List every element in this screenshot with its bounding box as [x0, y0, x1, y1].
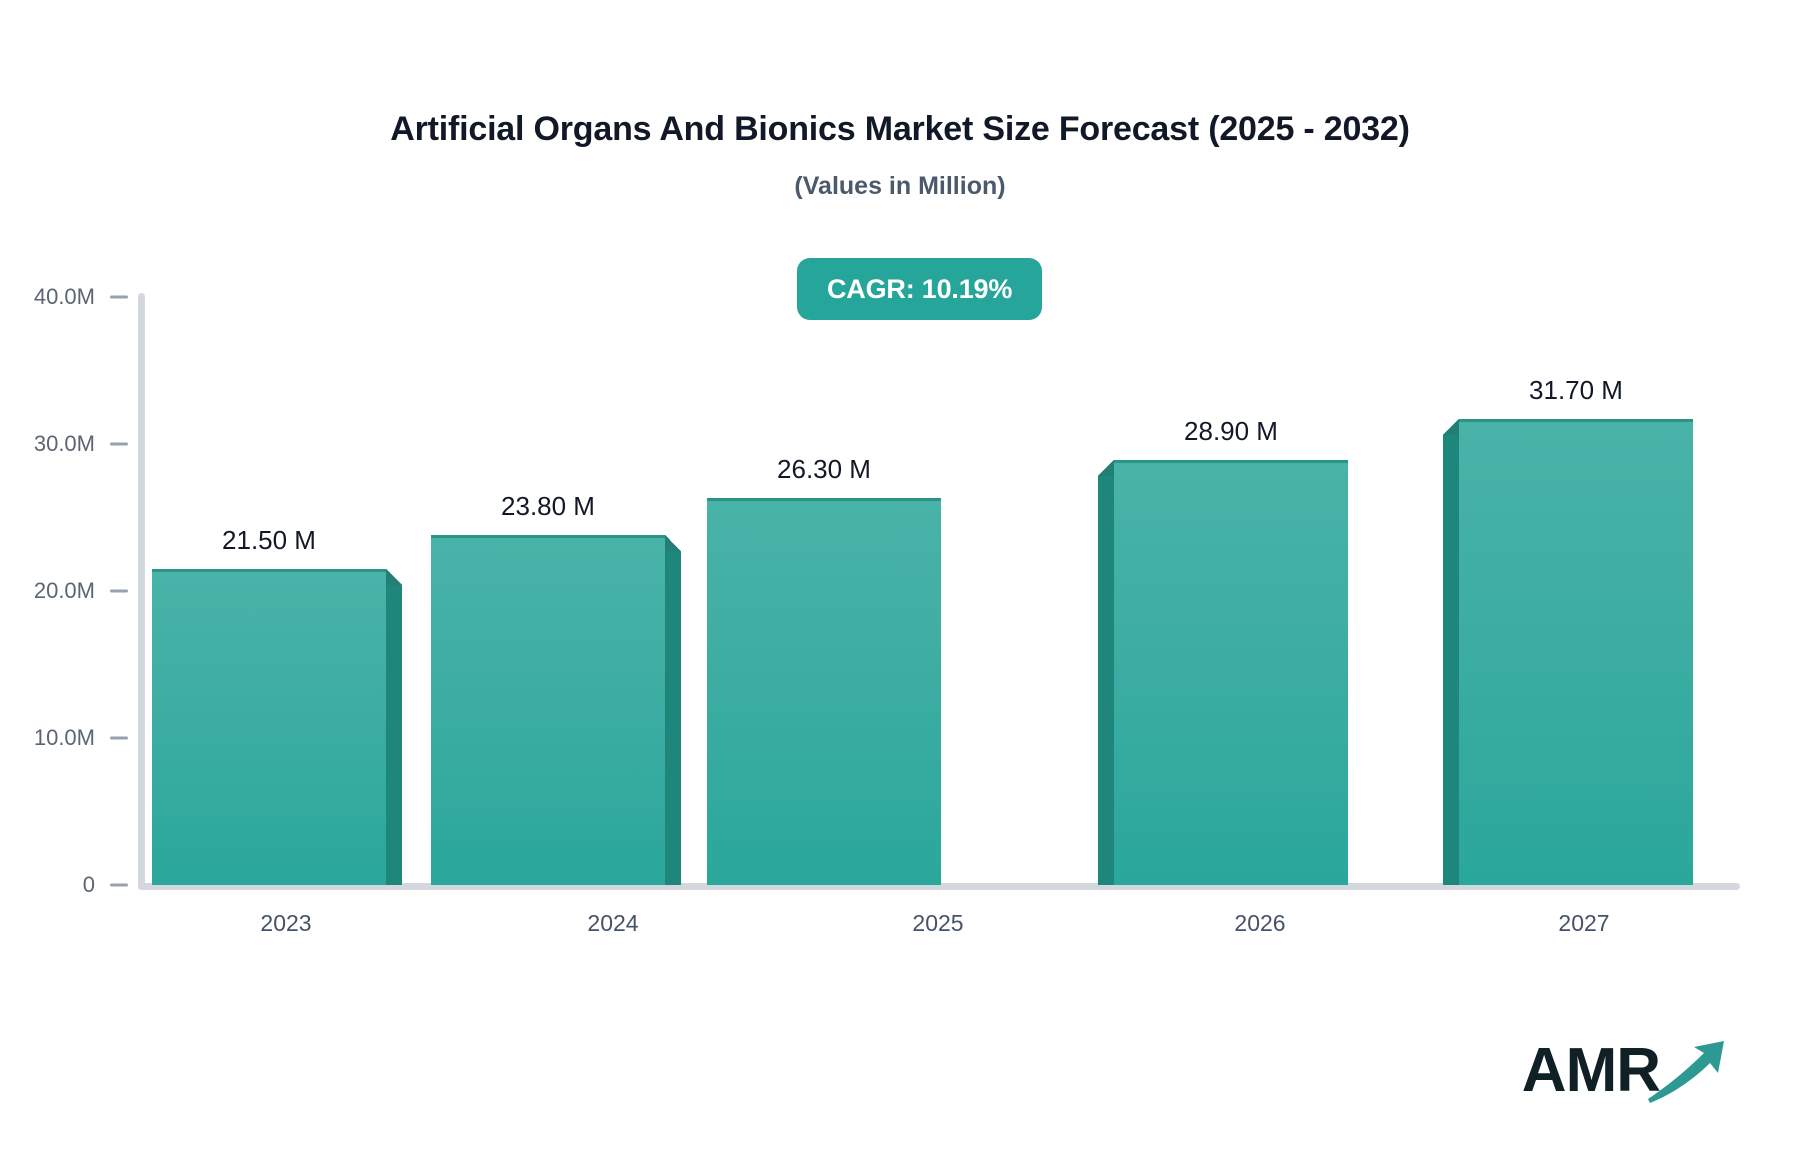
- bar-value-label-2026: 28.90 M: [1184, 416, 1278, 447]
- y-tick-label-10m: 10.0M: [0, 725, 95, 751]
- y-tick-dash-10m: [110, 737, 128, 740]
- bar-side-cap-2026: [1098, 460, 1114, 476]
- bar-face-2023: [152, 569, 386, 885]
- bar-face-2024: [431, 535, 665, 885]
- bar-side-2023: [386, 585, 402, 885]
- bar-side-cap-2024: [665, 535, 681, 551]
- bar-side-2026: [1098, 476, 1114, 885]
- y-axis-line: [138, 293, 145, 890]
- plot-area: 0 10.0M 20.0M 30.0M 40.0M 21.50 M 23.80 …: [0, 0, 1800, 1156]
- x-tick-label-2026: 2026: [1234, 910, 1285, 937]
- x-tick-label-2025: 2025: [912, 910, 963, 937]
- bar-side-2027: [1443, 435, 1459, 885]
- x-tick-label-2024: 2024: [587, 910, 638, 937]
- y-tick-dash-40m: [110, 296, 128, 299]
- bar-value-label-2023: 21.50 M: [222, 525, 316, 556]
- x-tick-label-2023: 2023: [260, 910, 311, 937]
- y-tick-label-20m: 20.0M: [0, 578, 95, 604]
- growth-arrow-icon: [1644, 1037, 1730, 1112]
- bar-group-2027[interactable]: 31.70 M: [1459, 419, 1693, 885]
- y-tick-dash-0: [110, 884, 128, 887]
- amr-logo-text: AMR: [1522, 1040, 1660, 1102]
- x-tick-label-2027: 2027: [1558, 910, 1609, 937]
- bar-group-2023[interactable]: 21.50 M: [152, 569, 386, 885]
- bar-face-2026: [1114, 460, 1348, 885]
- bar-group-2026[interactable]: 28.90 M: [1114, 460, 1348, 885]
- bar-face-2025: [707, 498, 941, 885]
- bar-value-label-2024: 23.80 M: [501, 491, 595, 522]
- y-tick-label-40m: 40.0M: [0, 284, 95, 310]
- bar-side-cap-2027: [1443, 419, 1459, 435]
- y-tick-label-30m: 30.0M: [0, 431, 95, 457]
- chart-canvas: Artificial Organs And Bionics Market Siz…: [0, 0, 1800, 1156]
- y-tick-dash-30m: [110, 443, 128, 446]
- bar-side-2024: [665, 551, 681, 885]
- bar-side-cap-2023: [386, 569, 402, 585]
- y-tick-label-0: 0: [0, 872, 95, 898]
- y-tick-dash-20m: [110, 590, 128, 593]
- bar-group-2025[interactable]: 26.30 M: [707, 498, 941, 885]
- bar-face-2027: [1459, 419, 1693, 885]
- bar-value-label-2027: 31.70 M: [1529, 375, 1623, 406]
- bar-value-label-2025: 26.30 M: [777, 454, 871, 485]
- bar-group-2024[interactable]: 23.80 M: [431, 535, 665, 885]
- amr-logo: AMR: [1522, 1026, 1730, 1116]
